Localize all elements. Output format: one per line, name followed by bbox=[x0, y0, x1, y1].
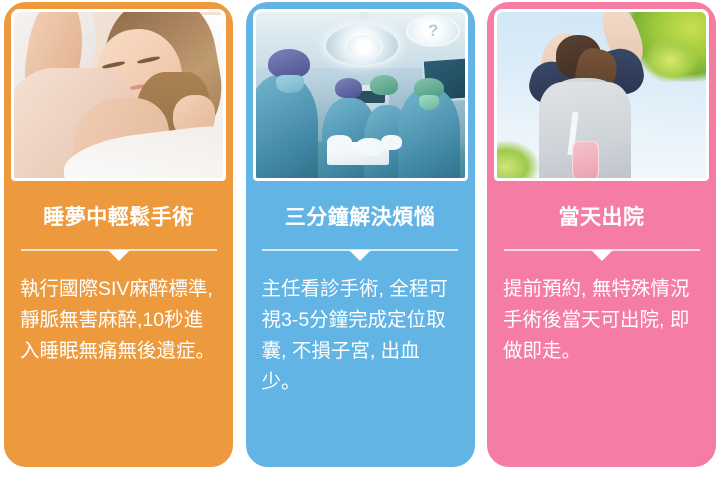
secondary-lamp-icon bbox=[406, 15, 460, 47]
glove-shape bbox=[381, 135, 402, 150]
card-description: 主任看診手術, 全程可視3-5分鐘完成定位取囊, 不損子宮, 出血少。 bbox=[262, 274, 459, 398]
surgical-mask-shape bbox=[276, 75, 303, 93]
card-description: 執行國際SIV麻醉標準, 靜脈無害麻醉,10秒進入睡眠無痛無後遺症。 bbox=[20, 274, 217, 367]
card-title: 三分鐘解決煩惱 bbox=[285, 207, 436, 228]
feature-card-three-minutes[interactable]: 三分鐘解決煩惱 主任看診手術, 全程可視3-5分鐘完成定位取囊, 不損子宮, 出… bbox=[246, 2, 475, 467]
operating-room-photo bbox=[256, 12, 465, 178]
card-body: 三分鐘解決煩惱 主任看診手術, 全程可視3-5分鐘完成定位取囊, 不損子宮, 出… bbox=[248, 181, 473, 465]
card-title: 睡夢中輕鬆手術 bbox=[43, 207, 194, 228]
card-body: 睡夢中輕鬆手術 執行國際SIV麻醉標準, 靜脈無害麻醉,10秒進入睡眠無痛無後遺… bbox=[6, 181, 231, 465]
surgical-cap-shape bbox=[335, 78, 362, 98]
title-divider bbox=[262, 249, 458, 261]
surgical-cap-shape bbox=[268, 49, 310, 79]
card-title: 當天出院 bbox=[559, 207, 645, 228]
title-divider bbox=[21, 249, 217, 261]
feature-card-row: 睡夢中輕鬆手術 執行國際SIV麻醉標準, 靜脈無害麻醉,10秒進入睡眠無痛無後遺… bbox=[0, 0, 720, 478]
woman-stretching-outdoors-photo bbox=[497, 12, 706, 178]
card-photo-frame bbox=[11, 9, 226, 181]
surgical-cap-shape bbox=[370, 75, 397, 95]
chevron-down-icon bbox=[108, 250, 130, 261]
sleeping-woman-photo bbox=[14, 12, 223, 178]
card-photo-frame bbox=[253, 9, 468, 181]
card-description: 提前預約, 無特殊情況手術後當天可出院, 即做即走。 bbox=[503, 274, 700, 367]
feature-card-anesthesia[interactable]: 睡夢中輕鬆手術 執行國際SIV麻醉標準, 靜脈無害麻醉,10秒進入睡眠無痛無後遺… bbox=[4, 2, 233, 467]
card-body: 當天出院 提前預約, 無特殊情況手術後當天可出院, 即做即走。 bbox=[489, 181, 714, 465]
glove-shape bbox=[356, 138, 383, 156]
feature-card-same-day-discharge[interactable]: 當天出院 提前預約, 無特殊情況手術後當天可出院, 即做即走。 bbox=[487, 2, 716, 467]
chevron-down-icon bbox=[591, 250, 613, 261]
foliage-shape bbox=[497, 141, 539, 178]
card-photo-frame bbox=[494, 9, 709, 181]
drink-bottle-shape bbox=[572, 141, 599, 178]
chevron-down-icon bbox=[349, 250, 371, 261]
surgical-mask-shape bbox=[419, 95, 440, 110]
surgical-lamp-icon bbox=[324, 24, 399, 67]
glove-shape bbox=[327, 135, 352, 152]
title-divider bbox=[504, 249, 700, 261]
foliage-shape bbox=[643, 39, 697, 82]
